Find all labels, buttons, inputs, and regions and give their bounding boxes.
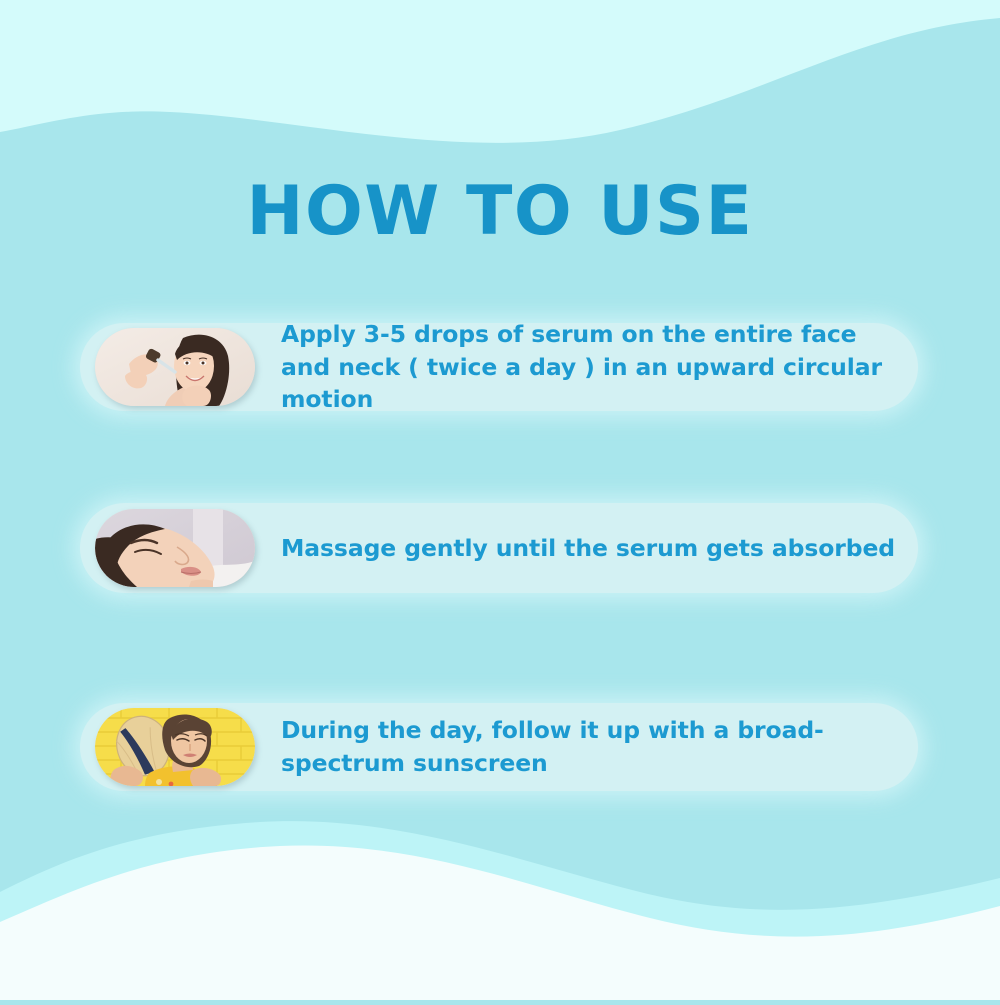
wave-decoration-top: [0, 0, 1000, 150]
wave-decoration-bottom: [0, 800, 1000, 1000]
step-card-1[interactable]: Apply 3-5 drops of serum on the entire f…: [80, 323, 918, 411]
page-title: HOW TO USE: [0, 172, 1000, 251]
step-3-text: During the day, follow it up with a broa…: [281, 714, 918, 780]
step-card-3[interactable]: During the day, follow it up with a broa…: [80, 703, 918, 791]
step-1-text: Apply 3-5 drops of serum on the entire f…: [281, 318, 918, 417]
step-card-2[interactable]: Massage gently until the serum gets abso…: [80, 503, 918, 593]
step-2-text: Massage gently until the serum gets abso…: [281, 532, 915, 565]
step-3-thumbnail-woman-straw-hat-yellow-wall: [95, 708, 255, 786]
step-2-thumbnail-woman-reclining-massage: [95, 509, 255, 587]
step-1-thumbnail-woman-applying-serum-dropper: [95, 328, 255, 406]
